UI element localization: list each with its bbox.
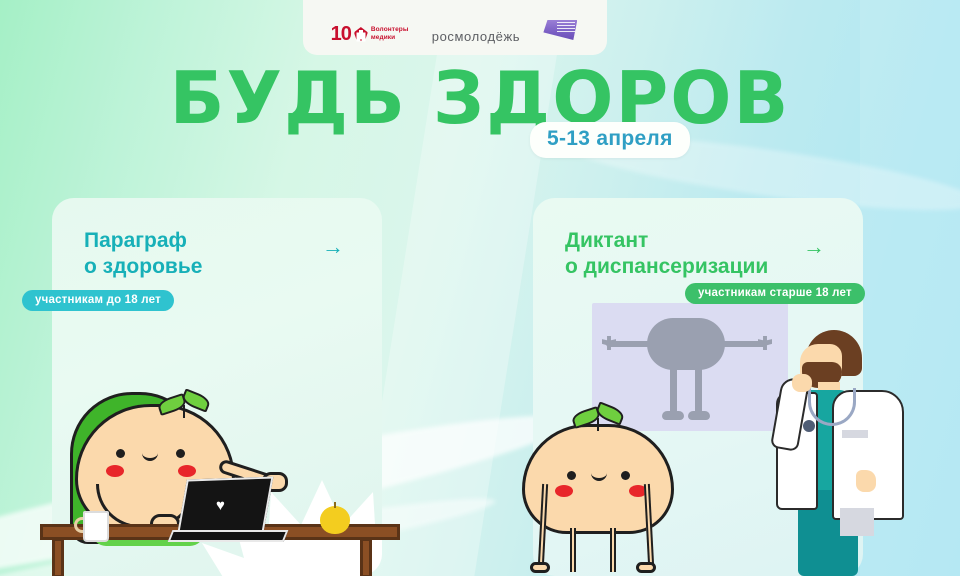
rosmolodezh-logo[interactable]: росмолодёжь <box>432 29 520 44</box>
doctor-hand-to-chin <box>792 374 812 392</box>
medical-cross-icon <box>354 26 368 42</box>
card-header-left: Параграф о здоровье → <box>84 228 358 281</box>
stem <box>597 418 599 431</box>
eye-right <box>621 471 630 480</box>
leg-right <box>610 528 616 572</box>
stem <box>183 405 185 418</box>
logo-line-2: медики <box>371 34 395 41</box>
laptop-base <box>168 530 289 542</box>
volunteers-medics-label: Волонтеры медики <box>371 26 409 42</box>
mug <box>83 511 109 542</box>
cheek-right <box>178 465 196 477</box>
logo-number: 10 <box>331 24 351 44</box>
volunteers-medics-logo[interactable]: 10 Волонтеры медики <box>331 24 409 44</box>
standing-sprout-character <box>500 400 690 576</box>
cheek-left <box>555 485 573 497</box>
doctor-figure <box>770 330 920 576</box>
title-word-1: БУДЬ <box>170 56 407 140</box>
eye-left <box>567 471 576 480</box>
leg-left <box>570 528 576 572</box>
eye-left <box>116 449 125 458</box>
card-title-right: Диктант о диспансеризации <box>565 228 839 281</box>
flag-mark-logo[interactable] <box>543 18 579 44</box>
sprout-icon-left <box>158 391 212 419</box>
xray-body-shape <box>647 318 725 370</box>
logo-line-1: Волонтеры <box>371 26 409 33</box>
cheek-left <box>106 465 124 477</box>
eye-right <box>176 449 185 458</box>
flag-stripes-icon <box>557 22 575 32</box>
poster-canvas: 10 Волонтеры медики росмолодёжь БУДЬЗДОР… <box>0 0 960 576</box>
arrow-right-icon[interactable]: → <box>322 236 344 258</box>
hand-right <box>636 562 656 573</box>
sprout-icon-middle <box>572 404 626 430</box>
badge-participants-over-18: участникам старше 18 лет <box>685 283 865 304</box>
heart-icon: ♥ <box>216 498 232 512</box>
card-title-left-line2: о здоровье <box>84 255 202 278</box>
card-title-left: Параграф о здоровье <box>84 228 358 281</box>
mouth-smile <box>591 471 607 481</box>
stethoscope-bell-icon <box>803 420 815 432</box>
arrow-right-icon[interactable]: → <box>803 236 825 258</box>
doctor-coat-pocket-top <box>842 430 868 438</box>
doctor-hand-on-hip <box>856 470 876 492</box>
badge-participants-under-18: участникам до 18 лет <box>22 290 174 311</box>
card-title-right-line2: о диспансеризации <box>565 255 768 278</box>
card-title-left-line1: Параграф <box>84 229 187 252</box>
doctor-coat-pocket-bottom <box>840 508 874 536</box>
xray-hand-left <box>602 336 616 350</box>
page-title: БУДЬЗДОРОВ <box>0 62 960 134</box>
partner-logo-bar: 10 Волонтеры медики росмолодёжь <box>303 0 607 55</box>
date-badge: 5-13 апреля <box>530 122 690 158</box>
xray-leg-right <box>695 367 702 415</box>
desk-leg-left <box>52 538 64 576</box>
character-at-desk: ♥ <box>30 386 400 576</box>
apple <box>320 506 350 534</box>
card-header-right: Диктант о диспансеризации → <box>565 228 839 281</box>
hand-left <box>530 562 550 573</box>
mouth-smile <box>142 451 158 461</box>
desk-leg-right <box>360 538 372 576</box>
xray-foot-right <box>688 411 710 420</box>
card-title-right-line1: Диктант <box>565 229 648 252</box>
